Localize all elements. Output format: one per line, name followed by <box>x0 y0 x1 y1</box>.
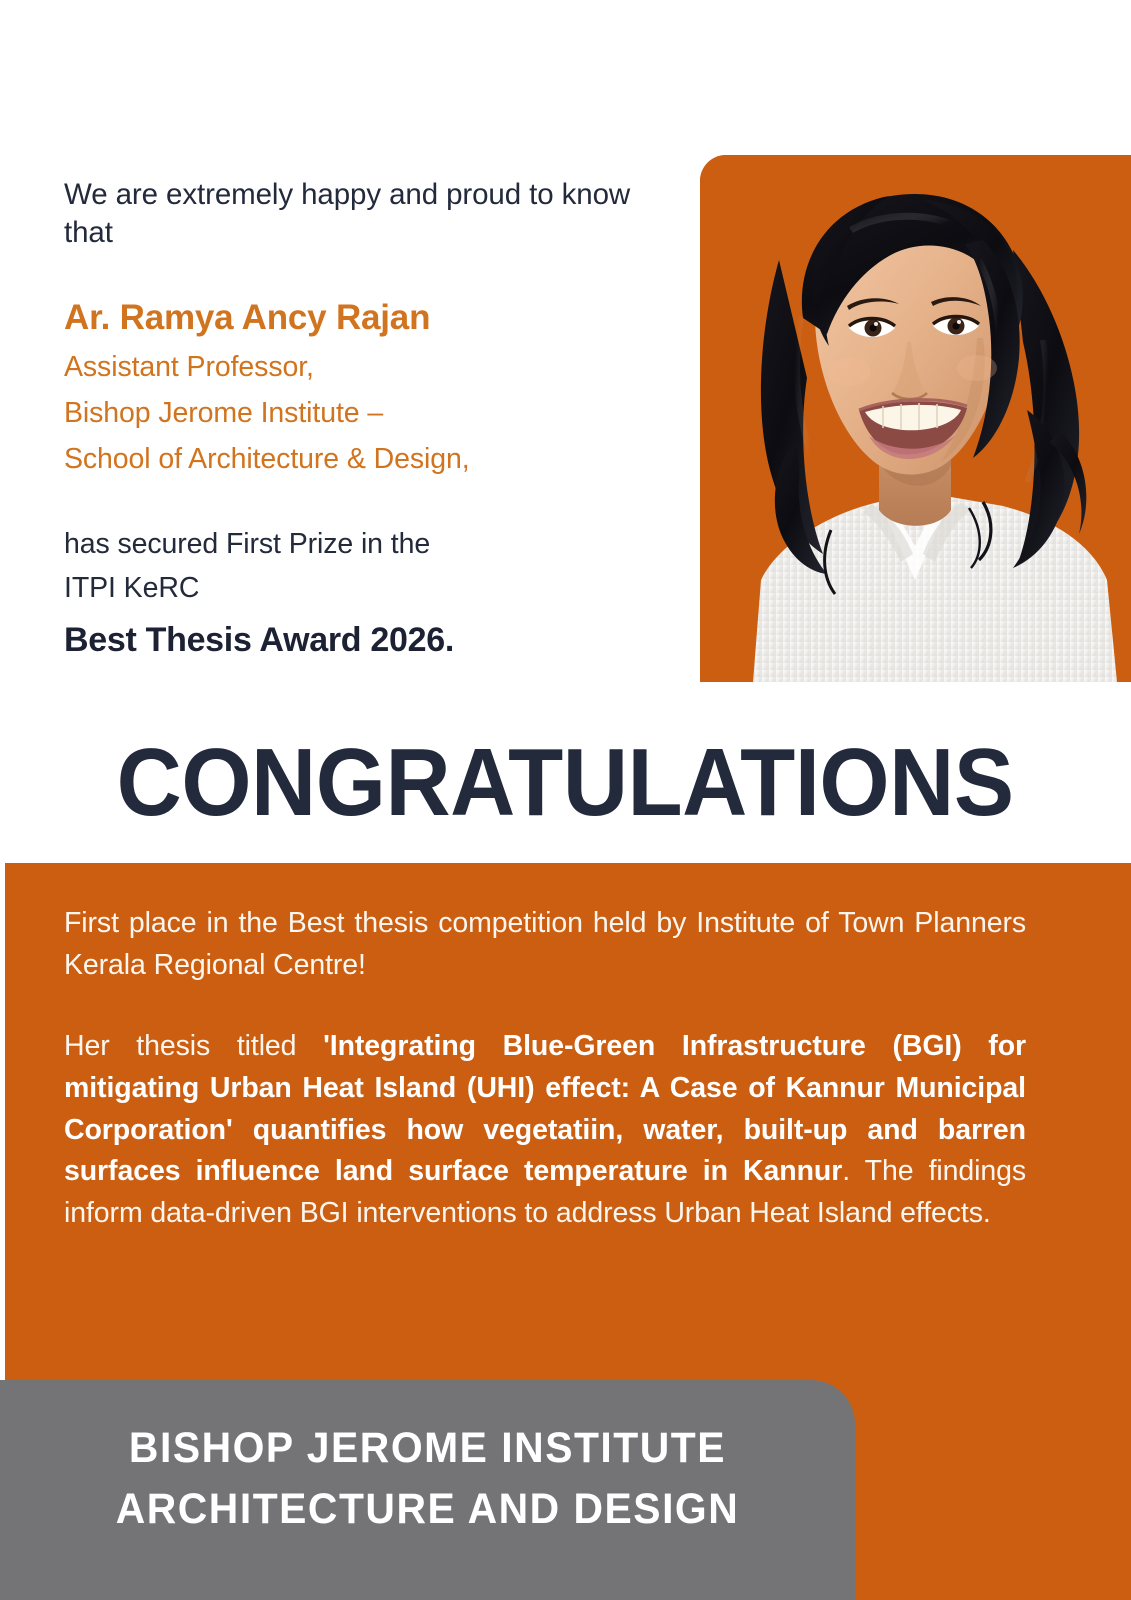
award-intro-block: has secured First Prize in the ITPI KeRC <box>64 522 649 610</box>
band-paragraph-first-place: First place in the Best thesis competiti… <box>64 903 1026 987</box>
footer-line-institute: BISHOP JEROME INSTITUTE <box>21 1418 833 1479</box>
awardee-name: Ar. Ramya Ancy Rajan <box>64 298 649 338</box>
top-section: We are extremely happy and proud to know… <box>0 0 1131 863</box>
footer-institution-block: BISHOP JEROME INSTITUTE ARCHITECTURE AND… <box>0 1380 855 1540</box>
award-intro-line-2: ITPI KeRC <box>64 566 649 610</box>
role-line-2: Bishop Jerome Institute – <box>64 390 649 436</box>
role-line-1: Assistant Professor, <box>64 344 649 390</box>
thesis-intro-text: Her thesis titled <box>64 1030 323 1062</box>
portrait-photo <box>683 110 1131 682</box>
congratulations-heading-wrap: CONGRATULATIONS <box>0 735 1131 831</box>
footer-panel: BISHOP JEROME INSTITUTE ARCHITECTURE AND… <box>0 1380 855 1600</box>
band-paragraph-thesis: Her thesis titled 'Integrating Blue-Gree… <box>64 1026 1026 1235</box>
awardee-role-block: Assistant Professor, Bishop Jerome Insti… <box>64 344 649 482</box>
portrait-block <box>683 110 1131 682</box>
award-intro-line-1: has secured First Prize in the <box>64 522 649 566</box>
footer-line-department: ARCHITECTURE AND DESIGN <box>21 1479 833 1540</box>
award-title: Best Thesis Award 2026. <box>64 621 649 659</box>
congratulations-poster: We are extremely happy and proud to know… <box>0 0 1131 1600</box>
role-line-3: School of Architecture & Design, <box>64 436 649 482</box>
left-text-column: We are extremely happy and proud to know… <box>64 176 649 659</box>
congratulations-heading: CONGRATULATIONS <box>117 735 1014 831</box>
band-text-column: First place in the Best thesis competiti… <box>64 903 1026 1235</box>
intro-text: We are extremely happy and proud to know… <box>64 176 649 252</box>
